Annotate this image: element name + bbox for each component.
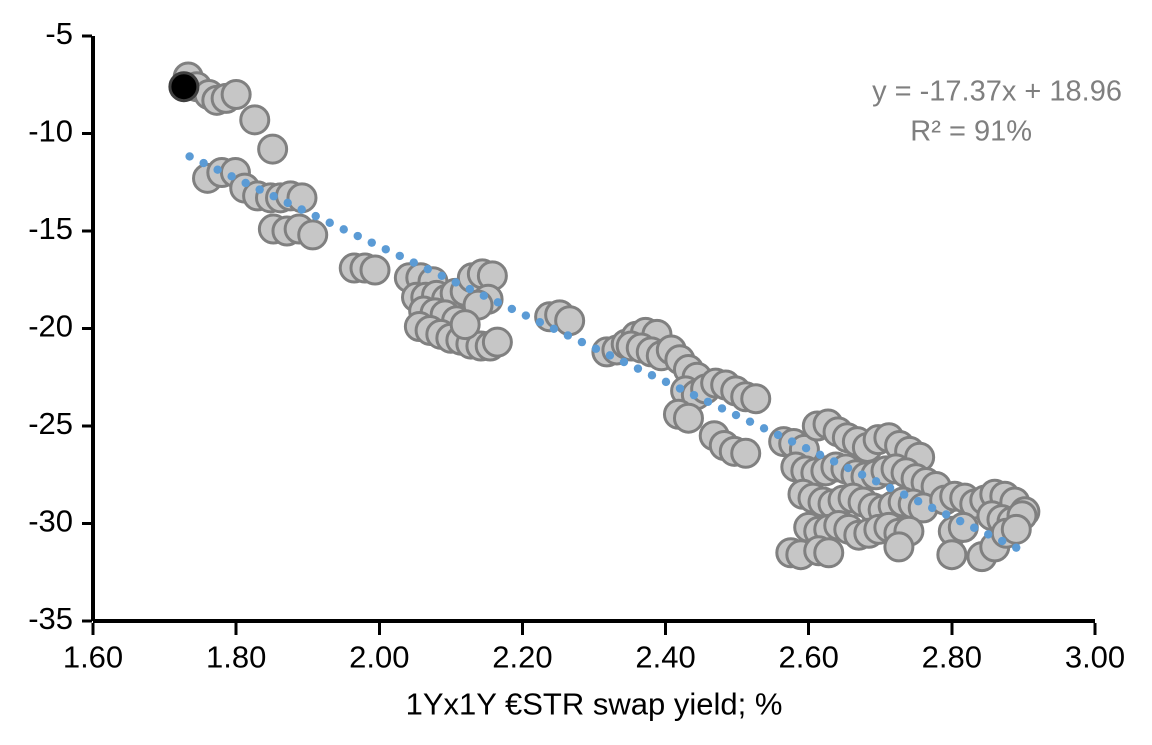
x-tick-label: 3.00 <box>1065 639 1125 674</box>
trendline-dot <box>1012 543 1020 551</box>
trendline-dot <box>802 444 810 452</box>
y-tick-label: -35 <box>28 601 73 636</box>
y-tick-label: -20 <box>28 309 73 344</box>
scatter-point <box>938 541 966 569</box>
scatter-point <box>222 81 250 109</box>
trendline-dot <box>844 464 852 472</box>
trendline-dot <box>886 484 894 492</box>
scatter-point <box>259 135 287 163</box>
trendline-dot <box>185 152 193 160</box>
trendline-dot <box>872 477 880 485</box>
trendline-dot <box>746 417 754 425</box>
trendline-dot <box>382 245 390 253</box>
trendline-dot <box>227 172 235 180</box>
trendline-dot <box>564 331 572 339</box>
highlighted-scatter-point <box>170 73 198 101</box>
trendline-dot <box>998 537 1006 545</box>
r-squared-label: R² = 91% <box>910 116 1032 148</box>
scatter-point <box>815 539 843 567</box>
trendline-dot <box>312 212 320 220</box>
x-tick-label: 2.40 <box>635 639 695 674</box>
y-tick-label: -25 <box>28 406 73 441</box>
y-tick-label: -5 <box>45 16 73 51</box>
y-axis-ticks: -5-10-15-20-25-30-35 <box>28 16 92 636</box>
trendline-dot <box>578 338 586 346</box>
trendline-dot <box>914 497 922 505</box>
trendline-dot <box>760 424 768 432</box>
trendline-dot <box>690 391 698 399</box>
trendline-dot <box>592 345 600 353</box>
y-tick-label: -15 <box>28 211 73 246</box>
trendline-dot <box>340 225 348 233</box>
trendline-dot <box>269 192 277 200</box>
scatter-point <box>556 307 584 335</box>
trendline-dot <box>704 398 712 406</box>
x-tick-label: 2.20 <box>492 639 552 674</box>
trendline-dot <box>662 378 670 386</box>
trendline-dot <box>648 371 656 379</box>
scatter-point <box>241 106 269 134</box>
trendline-dot <box>718 404 726 412</box>
trendline-dot <box>326 219 334 227</box>
trendline-dot <box>522 311 530 319</box>
trendline-dot <box>984 530 992 538</box>
trendline-dot <box>452 278 460 286</box>
scatter-point <box>674 404 702 432</box>
trendline-dot <box>942 510 950 518</box>
trendline-dot <box>199 159 207 167</box>
trendline-dot <box>788 437 796 445</box>
trendline-dot <box>241 179 249 187</box>
trendline-dot <box>508 305 516 313</box>
trendline-dot <box>970 524 978 532</box>
trendline-dot <box>396 252 404 260</box>
y-tick-label: -30 <box>28 504 73 539</box>
trendline-dot <box>410 258 418 266</box>
trendline-dot <box>634 364 642 372</box>
trendline-dot <box>732 411 740 419</box>
scatter-point <box>732 439 760 467</box>
trendline-dot <box>606 351 614 359</box>
trendline-dot <box>816 451 824 459</box>
trendline-dot <box>368 238 376 246</box>
regression-equation-label: y = -17.37x + 18.96 <box>872 76 1122 108</box>
scatter-point <box>1002 515 1030 543</box>
trendline-dot <box>494 298 502 306</box>
scatter-point <box>885 533 913 561</box>
trendline-dot <box>928 504 936 512</box>
chart-plot-area: -5-10-15-20-25-30-35 1.601.802.002.202.4… <box>0 0 1152 745</box>
scatter-chart-figure: -5-10-15-20-25-30-35 1.601.802.002.202.4… <box>0 0 1152 745</box>
trendline-dot <box>900 490 908 498</box>
trendline-dot <box>354 232 362 240</box>
trendline-dot <box>550 325 558 333</box>
trendline-dot <box>213 166 221 174</box>
scatter-markers <box>174 63 1039 571</box>
scatter-point <box>451 311 479 339</box>
trendline-dot <box>774 431 782 439</box>
trendline-dot <box>536 318 544 326</box>
scatter-point <box>361 256 389 284</box>
trendline-dot <box>424 265 432 273</box>
x-tick-label: 2.80 <box>922 639 982 674</box>
scatter-point <box>299 221 327 249</box>
trendline-dot <box>283 199 291 207</box>
trendline-dot <box>480 291 488 299</box>
trendline-dot <box>830 457 838 465</box>
trendline-dot <box>466 285 474 293</box>
x-tick-label: 1.80 <box>206 639 266 674</box>
trendline-dot <box>858 471 866 479</box>
x-tick-label: 2.00 <box>349 639 409 674</box>
trendline-dot <box>956 517 964 525</box>
scatter-point <box>742 385 770 413</box>
highlight-marker <box>170 73 198 101</box>
y-tick-label: -10 <box>28 114 73 149</box>
trendline-dot <box>438 272 446 280</box>
trendline-dot <box>298 205 306 213</box>
x-tick-label: 1.60 <box>63 639 123 674</box>
x-tick-label: 2.60 <box>779 639 839 674</box>
trendline-dot <box>255 185 263 193</box>
trendline-dot <box>676 384 684 392</box>
trendline-dot <box>620 358 628 366</box>
scatter-point <box>483 328 511 356</box>
x-axis-title: 1Yx1Y €STR swap yield; % <box>406 686 783 721</box>
x-axis-ticks: 1.601.802.002.202.402.602.803.00 <box>63 623 1125 674</box>
